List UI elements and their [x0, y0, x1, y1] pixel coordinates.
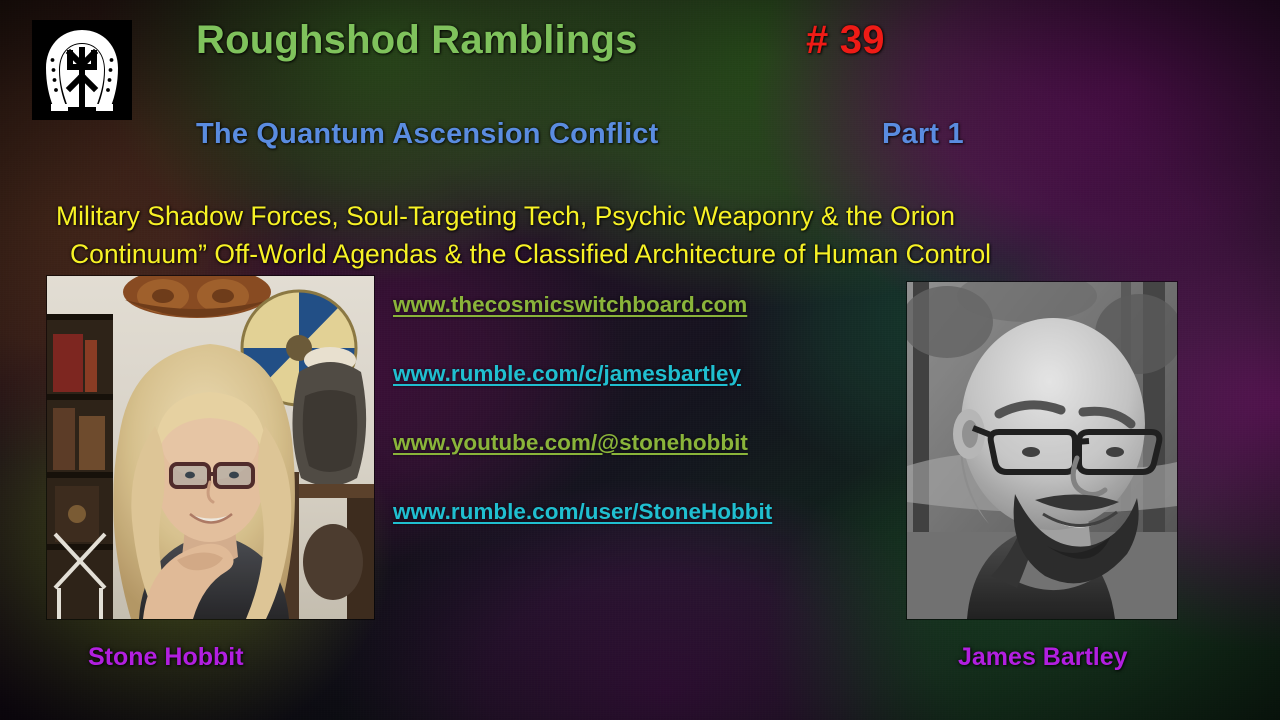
episode-description: Military Shadow Forces, Soul-Targeting T…	[56, 197, 1236, 273]
link-thecosmicswitchboard[interactable]: www.thecosmicswitchboard.com	[393, 292, 893, 318]
episode-number: # 39	[806, 18, 885, 63]
episode-title: The Quantum Ascension Conflict	[196, 118, 659, 151]
links-list: www.thecosmicswitchboard.com www.rumble.…	[393, 292, 893, 525]
episode-part: Part 1	[882, 118, 964, 151]
link-rumble-jamesbartley[interactable]: www.rumble.com/c/jamesbartley	[393, 361, 893, 387]
link-youtube-stonehobbit[interactable]: www.youtube.com/@stonehobbit	[393, 430, 893, 456]
guest-name-stone-hobbit: Stone Hobbit	[88, 643, 244, 672]
link-rumble-stonehobbit[interactable]: www.rumble.com/user/StoneHobbit	[393, 499, 893, 525]
show-title: Roughshod Ramblings	[196, 18, 638, 63]
stone-hobbit-photo	[47, 276, 374, 619]
description-line-1: Military Shadow Forces, Soul-Targeting T…	[56, 197, 1236, 235]
guest-name-james-bartley: James Bartley	[958, 643, 1128, 672]
horseshoe-rune-logo	[32, 20, 132, 120]
james-bartley-photo	[907, 282, 1177, 619]
video-thumbnail-slide: Roughshod Ramblings # 39 The Quantum Asc…	[0, 0, 1280, 720]
description-line-2: Continuum” Off-World Agendas & the Class…	[56, 235, 1236, 273]
